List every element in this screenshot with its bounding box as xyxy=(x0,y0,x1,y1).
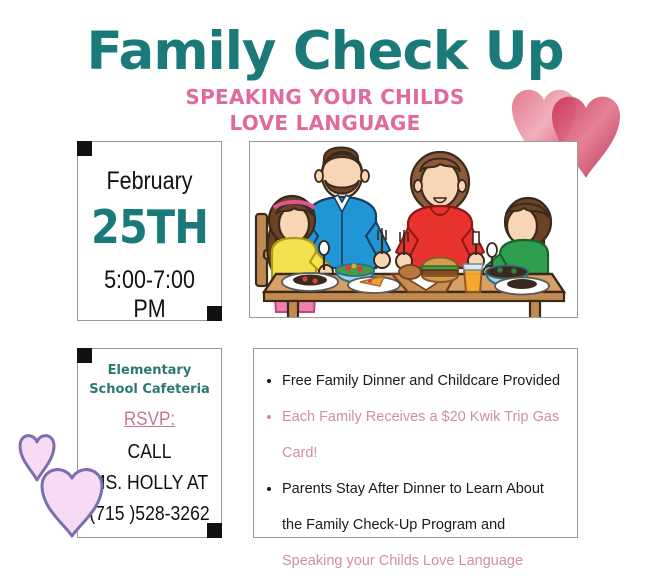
page-subtitle: SPEAKING YOUR CHILDS LOVE LANGUAGE xyxy=(0,84,650,136)
contact-phone-number: (715 )528-3262 xyxy=(88,499,210,530)
corner-marker-top-left xyxy=(77,141,92,156)
details-box: Free Family Dinner and Childcare Provide… xyxy=(253,348,578,538)
contact-line-2: MS. HOLLY AT xyxy=(88,468,210,499)
contact-info: CALL MS. HOLLY AT (715 )528-3262 xyxy=(88,437,210,530)
contact-line-1: CALL xyxy=(88,437,210,468)
list-item: Each Family Receives a $20 Kwik Trip Gas… xyxy=(282,399,565,471)
venue-line-2: School Cafeteria xyxy=(89,382,210,397)
subtitle-line-1: SPEAKING YOUR CHILDS xyxy=(0,84,650,110)
list-item-text-pink: Speaking your Childs Love Language xyxy=(282,553,523,569)
date-box: February 25TH 5:00-7:00 PM xyxy=(77,141,222,321)
list-item: Free Family Dinner and Childcare Provide… xyxy=(282,363,565,399)
family-dinner-illustration xyxy=(249,141,578,318)
event-month: February xyxy=(88,167,211,196)
list-item-text-black: Parents Stay After Dinner to Learn About… xyxy=(282,481,544,533)
rsvp-label: RSVP: xyxy=(85,409,214,431)
page-title: Family Check Up xyxy=(0,24,650,80)
list-item: Parents Stay After Dinner to Learn About… xyxy=(282,471,565,579)
event-time: 5:00-7:00 PM xyxy=(88,266,211,324)
subtitle-line-2: LOVE LANGUAGE xyxy=(0,110,650,136)
venue-line-1: Elementary xyxy=(108,363,192,378)
venue-name: Elementary School Cafeteria xyxy=(84,361,215,399)
location-rsvp-box: Elementary School Cafeteria RSVP: CALL M… xyxy=(77,348,222,538)
event-day: 25TH xyxy=(85,200,214,254)
